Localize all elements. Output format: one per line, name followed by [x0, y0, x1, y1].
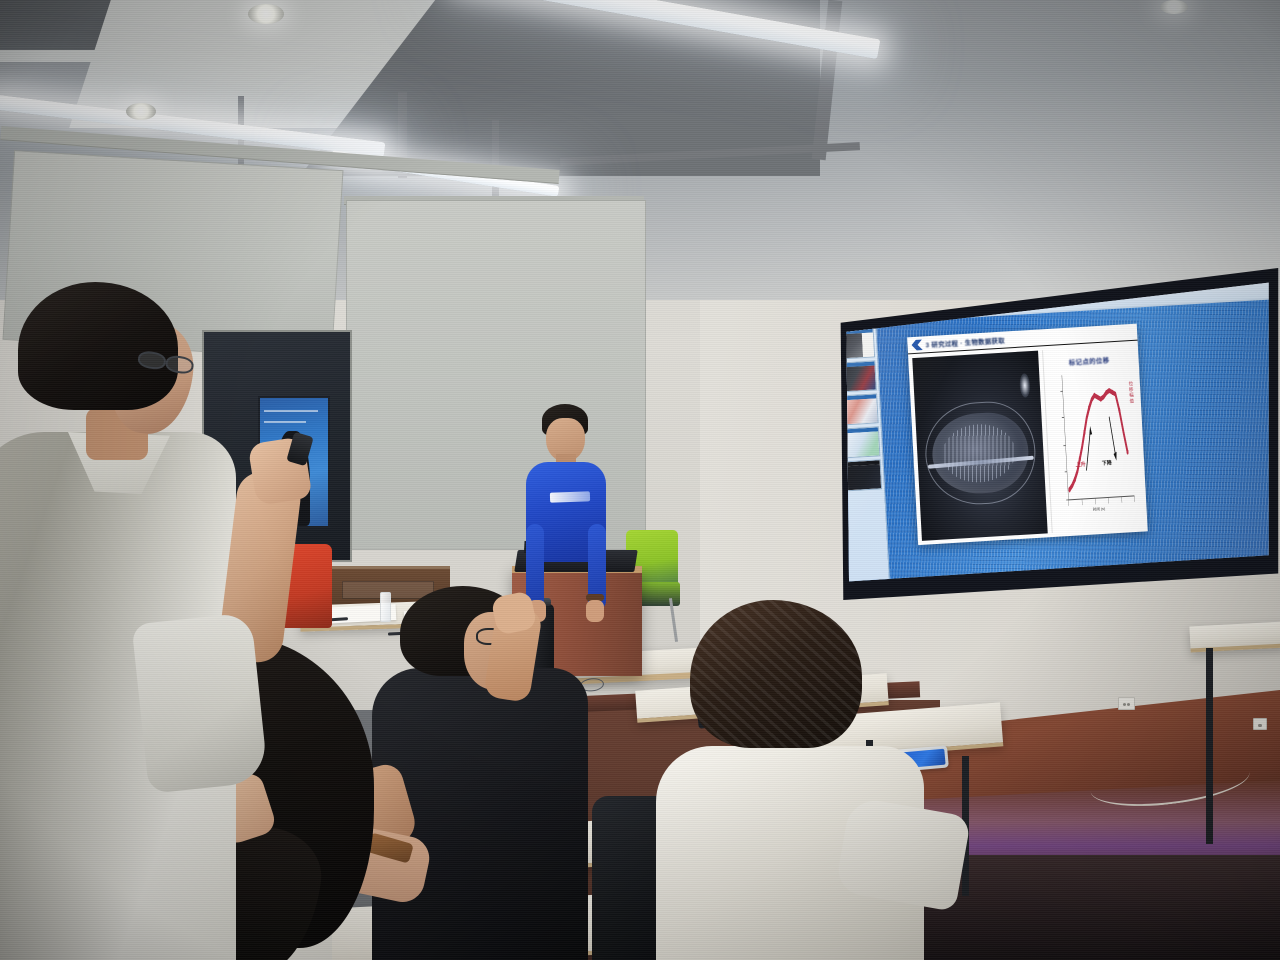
- slide-thumbnail-1-text: [862, 332, 874, 357]
- select-button-icon[interactable]: [1005, 284, 1035, 290]
- chart-svg: [1054, 371, 1136, 516]
- slide-thumbnail-1[interactable]: 1: [843, 327, 875, 359]
- chevron-bullet-icon: [911, 339, 923, 351]
- font-icon-row-2[interactable]: [878, 287, 895, 293]
- bold-icon[interactable]: [878, 282, 883, 287]
- ribbon-group-slides[interactable]: 新建: [854, 282, 873, 300]
- chart-plot-area: 上升 下降 时间 (s): [1054, 371, 1136, 516]
- slide-thumbnail-5[interactable]: 5: [843, 459, 882, 491]
- slide-thumbnail-4-image: [843, 431, 879, 457]
- ribbon-group-clipboard[interactable]: 粘贴: [843, 284, 852, 302]
- audience-person-white-top: [646, 600, 976, 960]
- ribbon-group-drawing[interactable]: [929, 278, 1002, 296]
- font-color-icon[interactable]: [878, 288, 883, 293]
- classroom-scene: 2017 - Microsoft PowerPoint 文件 开始 插入 设计: [0, 0, 1280, 960]
- presenter-shirt-logo: [550, 491, 590, 502]
- ribbon-group-paragraph-label: 段落: [911, 292, 918, 297]
- line-spacing-icon[interactable]: [917, 285, 922, 290]
- powerpoint-workspace[interactable]: 1 2: [843, 298, 1273, 584]
- replace-button-icon[interactable]: [1004, 279, 1044, 285]
- xray-highlight: [1019, 373, 1030, 398]
- paste-icon[interactable]: [843, 284, 848, 296]
- font-size-icon[interactable]: [884, 287, 889, 292]
- audience-man-raising-hand: [0, 282, 340, 960]
- ribbon-group-font[interactable]: 字体: [875, 281, 900, 299]
- slide-content: 标记点的位移: [908, 341, 1148, 546]
- shapes-gallery-row-2[interactable]: [929, 281, 1001, 289]
- italic-icon[interactable]: [884, 281, 889, 286]
- paragraph-icon-row-1[interactable]: [905, 279, 922, 285]
- power-outlet-right: [1118, 697, 1135, 710]
- chart-annotation-rise: 上升: [1075, 461, 1085, 469]
- ribbon-group-slides-label: 新建: [860, 295, 867, 300]
- slide-thumbnail-5-body: [843, 464, 881, 490]
- chart-y-axis: [1062, 375, 1069, 500]
- clear-format-icon[interactable]: [890, 287, 895, 292]
- power-outlet-corner: [1253, 718, 1267, 730]
- man-left-hair: [18, 282, 178, 410]
- shapes-gallery-row-3[interactable]: [930, 287, 984, 294]
- man-left-held-pen: [286, 432, 313, 466]
- ribbon-tab-home[interactable]: 开始: [850, 278, 865, 282]
- current-slide[interactable]: 3 研究过程 · 生物数据获取: [907, 324, 1148, 546]
- slide-thumbnail-2-image: [843, 365, 876, 391]
- align-right-icon[interactable]: [911, 286, 916, 291]
- ceiling-downlight-3: [1160, 0, 1188, 14]
- ribbon-group-paragraph[interactable]: 段落: [902, 279, 927, 297]
- slide-thumbnail-2[interactable]: 2: [843, 360, 877, 392]
- ribbon-tab-transitions[interactable]: 切换: [901, 278, 914, 279]
- numbering-icon[interactable]: [911, 280, 916, 285]
- chart-series-line: [1064, 390, 1129, 490]
- chart-x-axis: [1068, 496, 1134, 500]
- side-table-leg: [1206, 648, 1213, 844]
- ribbon-group-font-label: 字体: [884, 293, 891, 298]
- bullets-icon[interactable]: [905, 280, 910, 285]
- slide-editing-stage[interactable]: 3 研究过程 · 生物数据获取: [876, 298, 1273, 581]
- slide-thumbnail-1-body: [843, 332, 874, 358]
- chart-y-ticks: [1060, 391, 1068, 500]
- wall-display[interactable]: 2017 - Microsoft PowerPoint 文件 开始 插入 设计: [838, 268, 1280, 600]
- slide-thumbnail-5-image: [843, 464, 881, 490]
- chart-series-markers: [1063, 389, 1130, 492]
- presenter: [518, 404, 614, 574]
- chart-side-label: 位移幅值: [1128, 381, 1135, 405]
- chart-title: 标记点的位移: [1043, 345, 1135, 368]
- slide-thumbnail-4[interactable]: 4: [843, 426, 880, 458]
- xray-image: [912, 351, 1048, 541]
- chart-annotation-arrows: [1084, 416, 1118, 470]
- presenter-shirt: [526, 462, 606, 562]
- slide-thumbnail-2-body: [843, 365, 876, 391]
- ribbon-tab-design[interactable]: 设计: [885, 278, 898, 280]
- displacement-chart: 标记点的位移: [1042, 345, 1144, 533]
- chart-annotation-fall: 下降: [1102, 460, 1112, 468]
- man-white-hair: [690, 600, 862, 748]
- align-left-icon[interactable]: [917, 279, 922, 284]
- ribbon-tab-file[interactable]: 文件: [843, 278, 846, 283]
- slide-thumbnail-3-image: [843, 398, 878, 424]
- new-slide-icon[interactable]: [857, 283, 869, 295]
- side-table: [1189, 622, 1280, 653]
- ribbon-tab-insert[interactable]: 插入: [868, 278, 881, 281]
- ceiling-downlight-1: [248, 4, 284, 24]
- align-center-icon[interactable]: [905, 286, 910, 291]
- ribbon-group-editing[interactable]: [1004, 278, 1045, 291]
- find-button-icon[interactable]: [1004, 278, 1038, 280]
- slide-thumbnail-4-body: [843, 431, 879, 457]
- underline-icon[interactable]: [890, 281, 895, 286]
- shapes-gallery-row-1[interactable]: [929, 278, 989, 285]
- slide-title: 3 研究过程 · 生物数据获取: [925, 335, 1005, 349]
- font-icon-row-1[interactable]: [878, 281, 895, 287]
- man-left-sleeve: [131, 612, 268, 794]
- ceiling-duct-hanger-2: [492, 120, 499, 206]
- slide-thumbnail-3[interactable]: 3: [843, 393, 879, 425]
- paragraph-icon-row-2[interactable]: [905, 285, 922, 291]
- slide-thumbnail-3-body: [843, 398, 878, 424]
- ceiling-downlight-2: [126, 103, 156, 120]
- ribbon-group-clipboard-label: 粘贴: [843, 296, 846, 301]
